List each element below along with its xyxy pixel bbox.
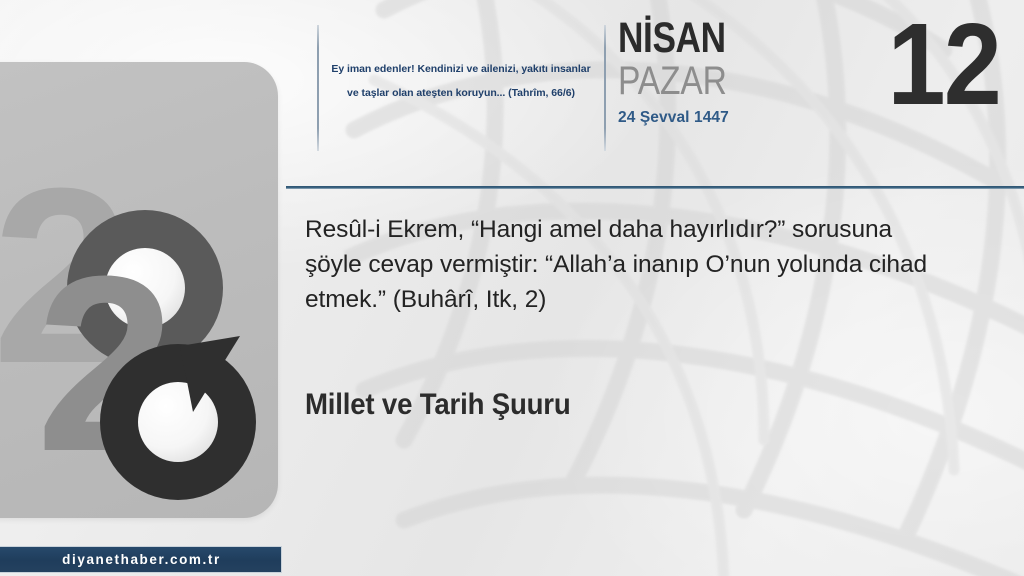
divider-vertical-right: [604, 25, 606, 151]
verse-line-2: ve taşlar olan ateşten koruyun... (Tahrî…: [322, 82, 600, 106]
quran-verse: Ey iman edenler! Kendinizi ve ailenizi, …: [322, 58, 600, 105]
divider-vertical-left: [317, 25, 319, 151]
footer-bar: diyanethaber.com.tr: [0, 546, 282, 573]
weekday-label: PAZAR: [618, 61, 828, 101]
calendar-page: 2 2: [0, 0, 1024, 576]
website-url[interactable]: diyanethaber.com.tr: [52, 552, 221, 567]
hijri-date-label: 24 Şevval 1447: [618, 109, 868, 127]
logo-panel: 2 2: [0, 62, 278, 518]
divider-horizontal: [286, 186, 1024, 189]
day-number: 12: [887, 6, 1000, 122]
year-logo-2026: 2 2: [0, 150, 278, 522]
verse-line-1: Ey iman edenler! Kendinizi ve ailenizi, …: [322, 58, 600, 82]
month-label: NİSAN: [618, 18, 823, 59]
hadith-text: Resûl-i Ekrem, “Hangi amel daha hayırlıd…: [305, 212, 935, 317]
subject-title: Millet ve Tarih Şuuru: [305, 388, 571, 422]
date-block: NİSAN PAZAR 24 Şevval 1447: [618, 18, 868, 127]
